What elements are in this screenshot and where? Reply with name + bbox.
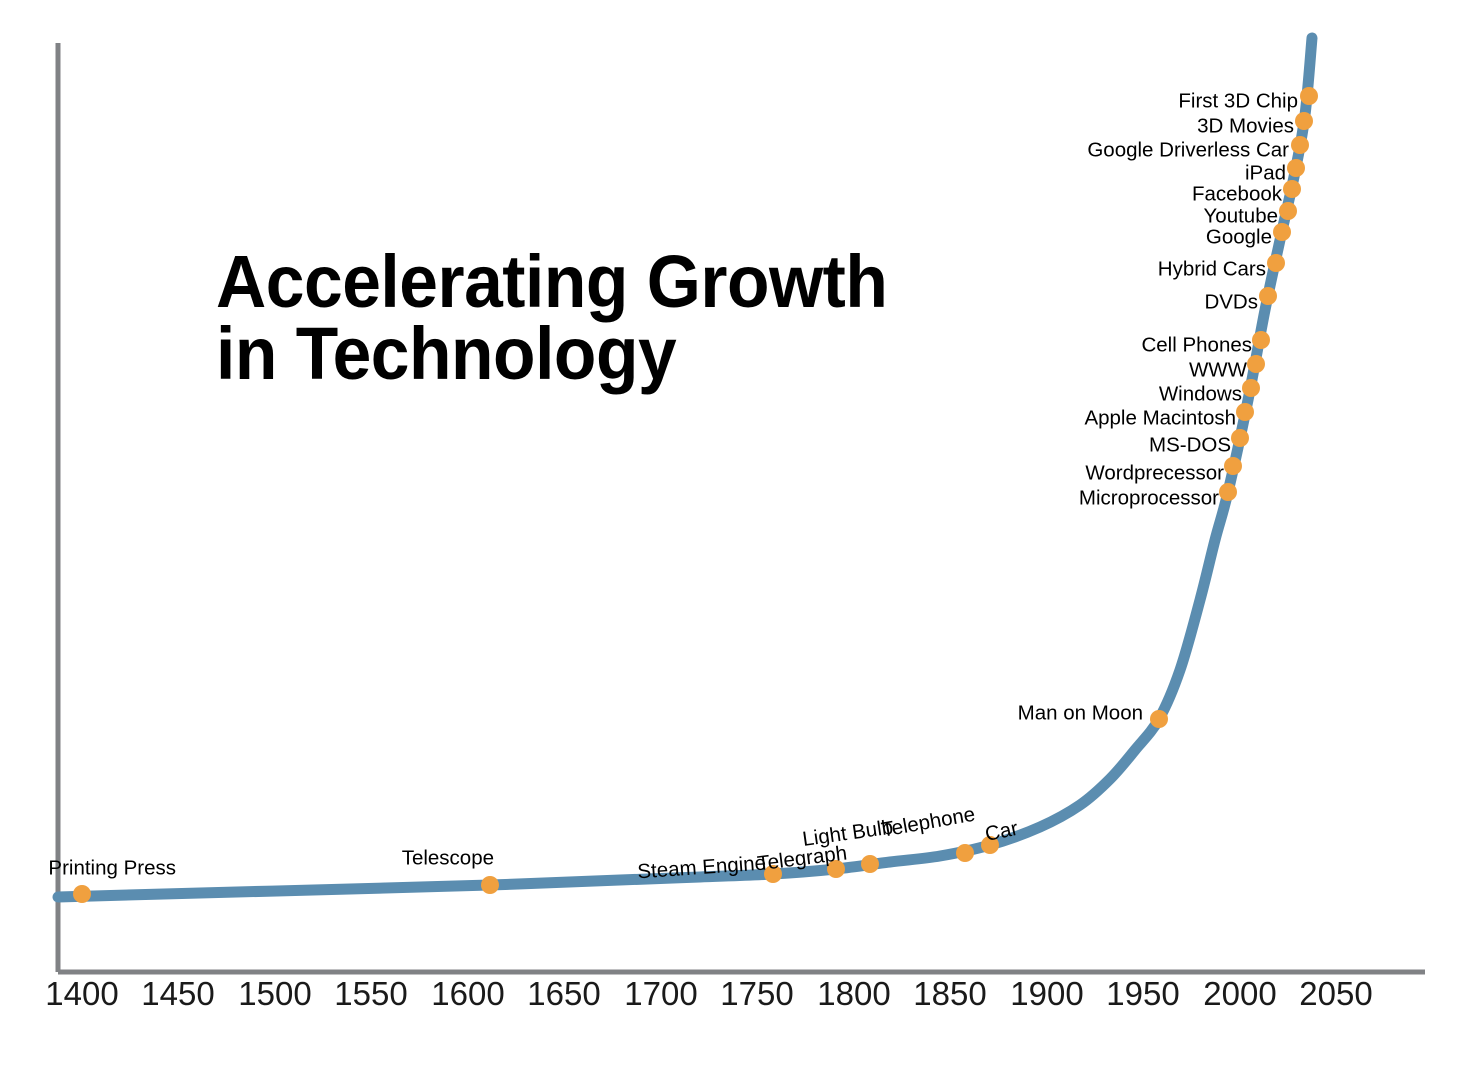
data-point-label: Telescope bbox=[402, 846, 494, 869]
x-axis-tick-label: 2000 bbox=[1203, 975, 1276, 1012]
data-point-label: Wordprecessor bbox=[1085, 461, 1224, 484]
data-point-label: DVDs bbox=[1204, 290, 1258, 313]
growth-chart-svg: Printing PressTelescopeSteam EngineTeleg… bbox=[0, 0, 1458, 1068]
x-axis-tick-label: 1450 bbox=[141, 975, 214, 1012]
data-point-marker[interactable] bbox=[1219, 483, 1237, 501]
data-point-marker[interactable] bbox=[1267, 254, 1285, 272]
data-point-label: Apple Macintosh bbox=[1084, 406, 1236, 429]
data-point-label: Telephone bbox=[880, 803, 977, 842]
x-axis-tick-label: 1650 bbox=[527, 975, 600, 1012]
data-point-marker[interactable] bbox=[1236, 403, 1254, 421]
x-axis-tick-label: 1400 bbox=[45, 975, 118, 1012]
x-axis-tick-label: 1850 bbox=[913, 975, 986, 1012]
data-point-marker[interactable] bbox=[1291, 136, 1309, 154]
x-axis-tick-label: 1900 bbox=[1010, 975, 1083, 1012]
data-point-marker[interactable] bbox=[1295, 112, 1313, 130]
x-axis-tick-label: 1800 bbox=[817, 975, 890, 1012]
data-point-label: Youtube bbox=[1204, 204, 1279, 227]
x-axis-tick-label: 1750 bbox=[720, 975, 793, 1012]
data-point-label: Man on Moon bbox=[1018, 701, 1143, 724]
data-point-label: WWW bbox=[1189, 358, 1248, 381]
data-point-label: Windows bbox=[1159, 382, 1242, 405]
data-point-label: First 3D Chip bbox=[1178, 89, 1298, 112]
x-axis-tick-label: 1550 bbox=[334, 975, 407, 1012]
data-point-marker[interactable] bbox=[1242, 379, 1260, 397]
data-point-marker[interactable] bbox=[73, 885, 91, 903]
data-point-marker[interactable] bbox=[1231, 429, 1249, 447]
data-point-label: 3D Movies bbox=[1197, 114, 1294, 137]
data-point-label: Microprocessor bbox=[1079, 486, 1219, 509]
data-point-label: Google Driverless Car bbox=[1087, 138, 1289, 161]
x-axis-tick-label: 1700 bbox=[624, 975, 697, 1012]
data-point-marker[interactable] bbox=[861, 855, 879, 873]
data-point-label: Cell Phones bbox=[1141, 333, 1252, 356]
chart-container: Accelerating Growth in Technology Printi… bbox=[0, 0, 1458, 1068]
data-point-marker[interactable] bbox=[1300, 87, 1318, 105]
data-point-marker[interactable] bbox=[956, 844, 974, 862]
data-point-marker[interactable] bbox=[1247, 355, 1265, 373]
data-point-label: Facebook bbox=[1192, 182, 1283, 205]
data-point-label: iPad bbox=[1245, 161, 1286, 184]
x-axis-tick-label: 1600 bbox=[431, 975, 504, 1012]
data-point-label: Hybrid Cars bbox=[1158, 257, 1266, 280]
x-axis-tick-label: 1950 bbox=[1106, 975, 1179, 1012]
data-point-marker[interactable] bbox=[1150, 710, 1168, 728]
x-axis-tick-label: 2050 bbox=[1299, 975, 1372, 1012]
x-axis-tick-label: 1500 bbox=[238, 975, 311, 1012]
data-point-marker[interactable] bbox=[1287, 159, 1305, 177]
data-point-label: Google bbox=[1206, 225, 1272, 248]
data-point-label: MS-DOS bbox=[1149, 433, 1231, 456]
x-axis-tick-labels-group: 1400145015001550160016501700175018001850… bbox=[45, 975, 1372, 1012]
data-point-marker[interactable] bbox=[481, 876, 499, 894]
data-point-labels-group: Printing PressTelescopeSteam EngineTeleg… bbox=[48, 89, 1298, 883]
data-point-label: Printing Press bbox=[48, 856, 176, 879]
data-point-marker[interactable] bbox=[1252, 331, 1270, 349]
data-point-marker[interactable] bbox=[1259, 287, 1277, 305]
data-point-marker[interactable] bbox=[1224, 457, 1242, 475]
